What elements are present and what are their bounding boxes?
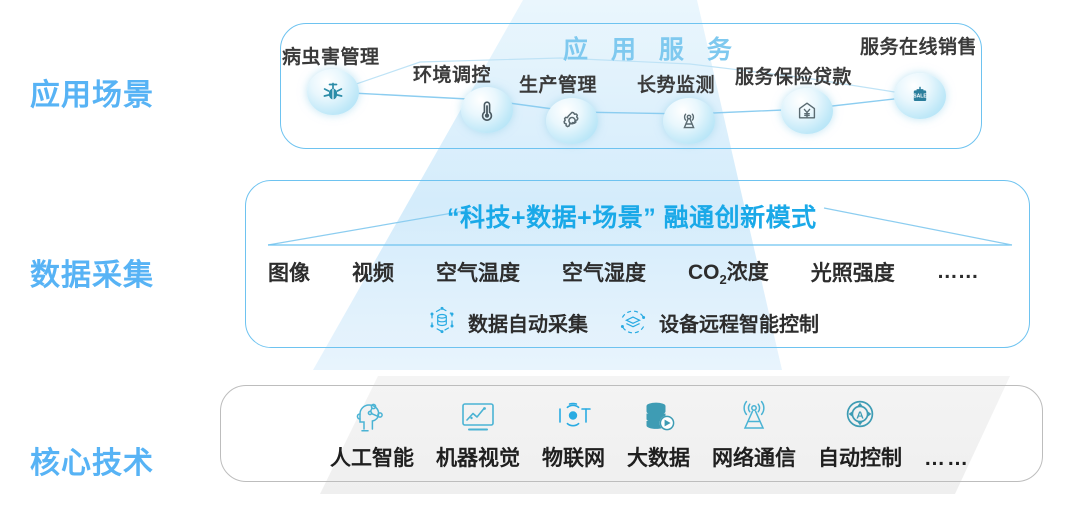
tech-label-network: 网络通信 [712, 442, 796, 472]
data-feature-remote-control: 设备远程智能控制 [616, 305, 819, 339]
auto-control-icon: A [839, 395, 881, 439]
app-node-label-pest-management: 病虫害管理 [282, 42, 380, 69]
data-feature-label-auto-collection: 数据自动采集 [468, 308, 588, 337]
tech-cell-network[interactable]: 网络通信 [712, 395, 796, 472]
tech-label-iot: 物联网 [542, 442, 605, 472]
data-collection-items: 图像 视频 空气温度 空气湿度 CO2浓度 光照强度 …… [268, 256, 1008, 288]
tech-cell-machine-vision[interactable]: 机器视觉 [436, 395, 520, 472]
data-item-co2: CO2浓度 [688, 256, 769, 287]
co2-suffix: 浓度 [727, 261, 769, 284]
svg-text:A: A [856, 409, 864, 421]
co2-subscript: 2 [720, 273, 727, 288]
row-label-data: 数据采集 [30, 250, 154, 294]
data-item-air-humidity: 空气湿度 [562, 257, 646, 287]
machine-vision-icon [457, 395, 499, 439]
app-node-label-environment-control: 环境调控 [413, 60, 491, 87]
sale-tag-icon[interactable]: SALE [894, 73, 946, 119]
core-technology-items: 人工智能 机器视觉 物联网 [330, 396, 970, 472]
row-label-application: 应用场景 [30, 70, 154, 114]
data-item-image: 图像 [268, 257, 310, 287]
app-node-label-online-sales: 服务在线销售 [860, 32, 977, 59]
tech-label-ellipsis: …… [924, 447, 970, 472]
tech-cell-auto-control[interactable]: A 自动控制 [818, 395, 902, 472]
bug-icon[interactable] [307, 69, 359, 115]
app-node-label-growth-monitoring: 长势监测 [637, 70, 715, 97]
data-feature-auto-collection: 数据自动采集 [425, 305, 588, 339]
layers-orbit-icon [616, 305, 650, 339]
data-item-video: 视频 [352, 257, 394, 287]
signal-tower-icon[interactable] [663, 98, 715, 144]
insurance-yen-icon[interactable] [781, 88, 833, 134]
tech-label-ai: 人工智能 [330, 442, 414, 472]
data-collection-headline: “科技+数据+场景” 融通创新模式 [447, 198, 817, 234]
ai-head-icon [351, 395, 393, 439]
thermometer-icon[interactable] [461, 87, 513, 133]
row-label-technology: 核心技术 [30, 438, 154, 482]
tech-cell-iot[interactable]: 物联网 [542, 395, 605, 472]
gear-icon[interactable] [546, 98, 598, 144]
iot-icon [553, 395, 595, 439]
application-service-title: 应 用 服 务 [563, 30, 740, 66]
database-hex-icon [425, 305, 459, 339]
network-tower-icon [733, 395, 775, 439]
svg-text:SALE: SALE [913, 94, 927, 100]
tech-label-big-data: 大数据 [627, 442, 690, 472]
tech-label-machine-vision: 机器视觉 [436, 442, 520, 472]
tech-cell-ai[interactable]: 人工智能 [330, 395, 414, 472]
data-item-air-temp: 空气温度 [436, 257, 520, 287]
tech-cell-big-data[interactable]: 大数据 [627, 395, 690, 472]
tech-label-auto-control: 自动控制 [818, 442, 902, 472]
co2-prefix: CO [688, 261, 720, 284]
big-data-icon [638, 395, 680, 439]
app-node-label-production-management: 生产管理 [519, 70, 597, 97]
app-node-label-insurance-loan: 服务保险贷款 [735, 62, 852, 89]
data-item-ellipsis: …… [937, 260, 979, 284]
data-collection-features: 数据自动采集 设备远程智能控制 [425, 303, 819, 341]
data-item-light: 光照强度 [811, 257, 895, 287]
data-feature-label-remote-control: 设备远程智能控制 [659, 308, 819, 337]
